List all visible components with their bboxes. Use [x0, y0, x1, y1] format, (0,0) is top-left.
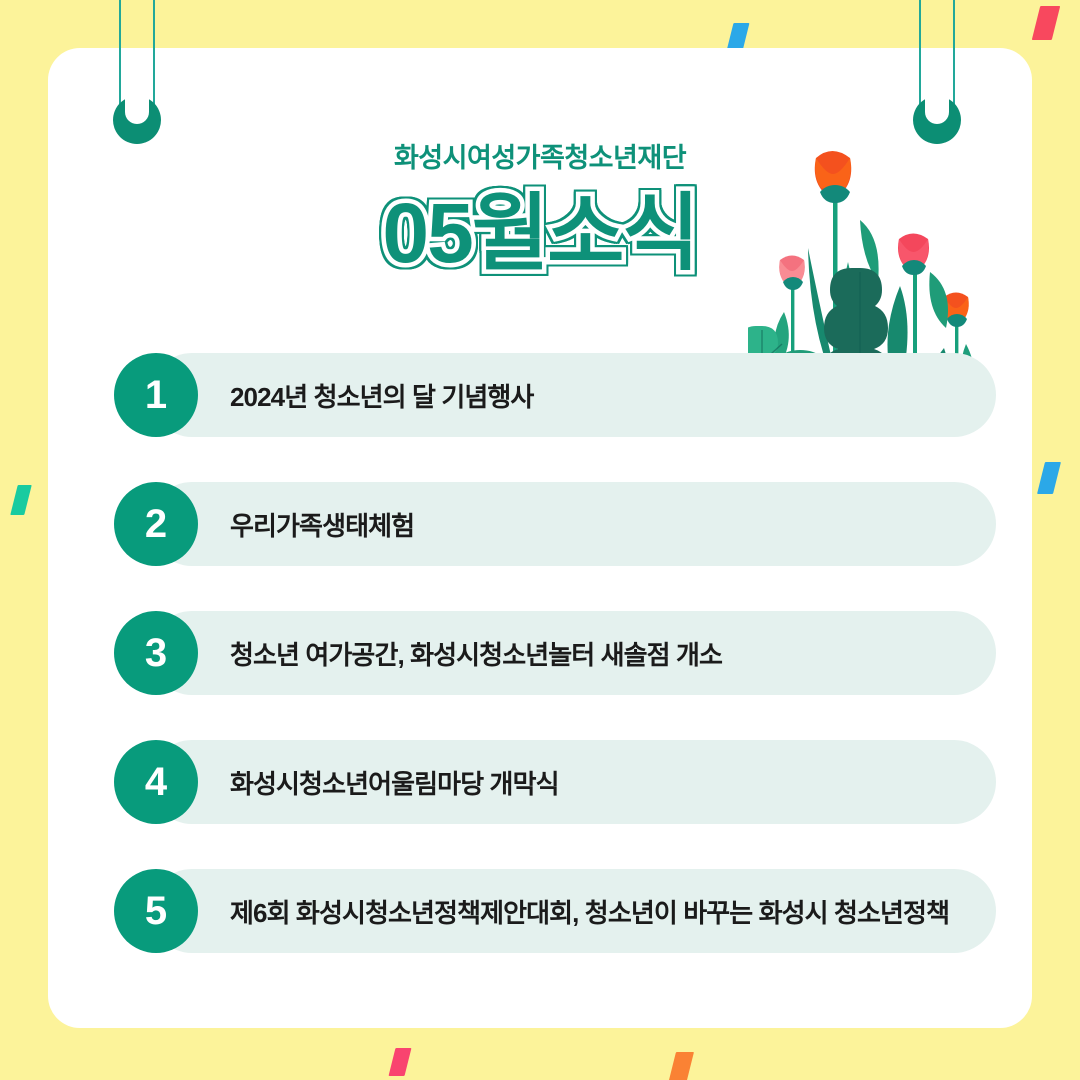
content-card: 화성시여성가족청소년재단 05월소식 — [48, 48, 1032, 1028]
list-item-label: 2024년 청소년의 달 기념행사 — [230, 353, 968, 437]
list-item[interactable]: 우리가족생태체험2 — [80, 482, 996, 566]
list-item-number-badge: 1 — [114, 353, 198, 437]
list-item-label: 제6회 화성시청소년정책제안대회, 청소년이 바꾸는 화성시 청소년정책 — [230, 869, 968, 953]
list-item-label: 화성시청소년어울림마당 개막식 — [230, 740, 968, 824]
list-item[interactable]: 청소년 여가공간, 화성시청소년놀터 새솔점 개소3 — [80, 611, 996, 695]
list-item-number-badge: 4 — [114, 740, 198, 824]
hanger-string-right — [953, 0, 955, 116]
poster-root: 화성시여성가족청소년재단 05월소식 — [0, 0, 1080, 1080]
announcement-list: 2024년 청소년의 달 기념행사1우리가족생태체험2청소년 여가공간, 화성시… — [80, 353, 996, 998]
page-title: 05월소식 — [382, 166, 697, 287]
deco-pink-bottom — [389, 1048, 412, 1076]
hanger-hook-icon — [913, 96, 961, 144]
deco-orange-bottom — [668, 1052, 694, 1080]
hanger-right — [913, 0, 961, 148]
hanger-string-left — [919, 0, 921, 116]
list-item-number-badge: 2 — [114, 482, 198, 566]
deco-blue-right — [1037, 462, 1061, 494]
hanger-string-left — [119, 0, 121, 116]
hanger-string-right — [153, 0, 155, 116]
list-item-number-badge: 5 — [114, 869, 198, 953]
list-item-number-badge: 3 — [114, 611, 198, 695]
list-item[interactable]: 제6회 화성시청소년정책제안대회, 청소년이 바꾸는 화성시 청소년정책5 — [80, 869, 996, 953]
list-item-label: 우리가족생태체험 — [230, 482, 968, 566]
list-item[interactable]: 화성시청소년어울림마당 개막식4 — [80, 740, 996, 824]
hanger-left — [113, 0, 161, 148]
list-item-label: 청소년 여가공간, 화성시청소년놀터 새솔점 개소 — [230, 611, 968, 695]
list-item[interactable]: 2024년 청소년의 달 기념행사1 — [80, 353, 996, 437]
deco-red-top-right — [1032, 6, 1060, 40]
deco-blue-top-left — [727, 23, 750, 51]
hanger-hook-icon — [113, 96, 161, 144]
deco-teal-left — [10, 485, 31, 515]
